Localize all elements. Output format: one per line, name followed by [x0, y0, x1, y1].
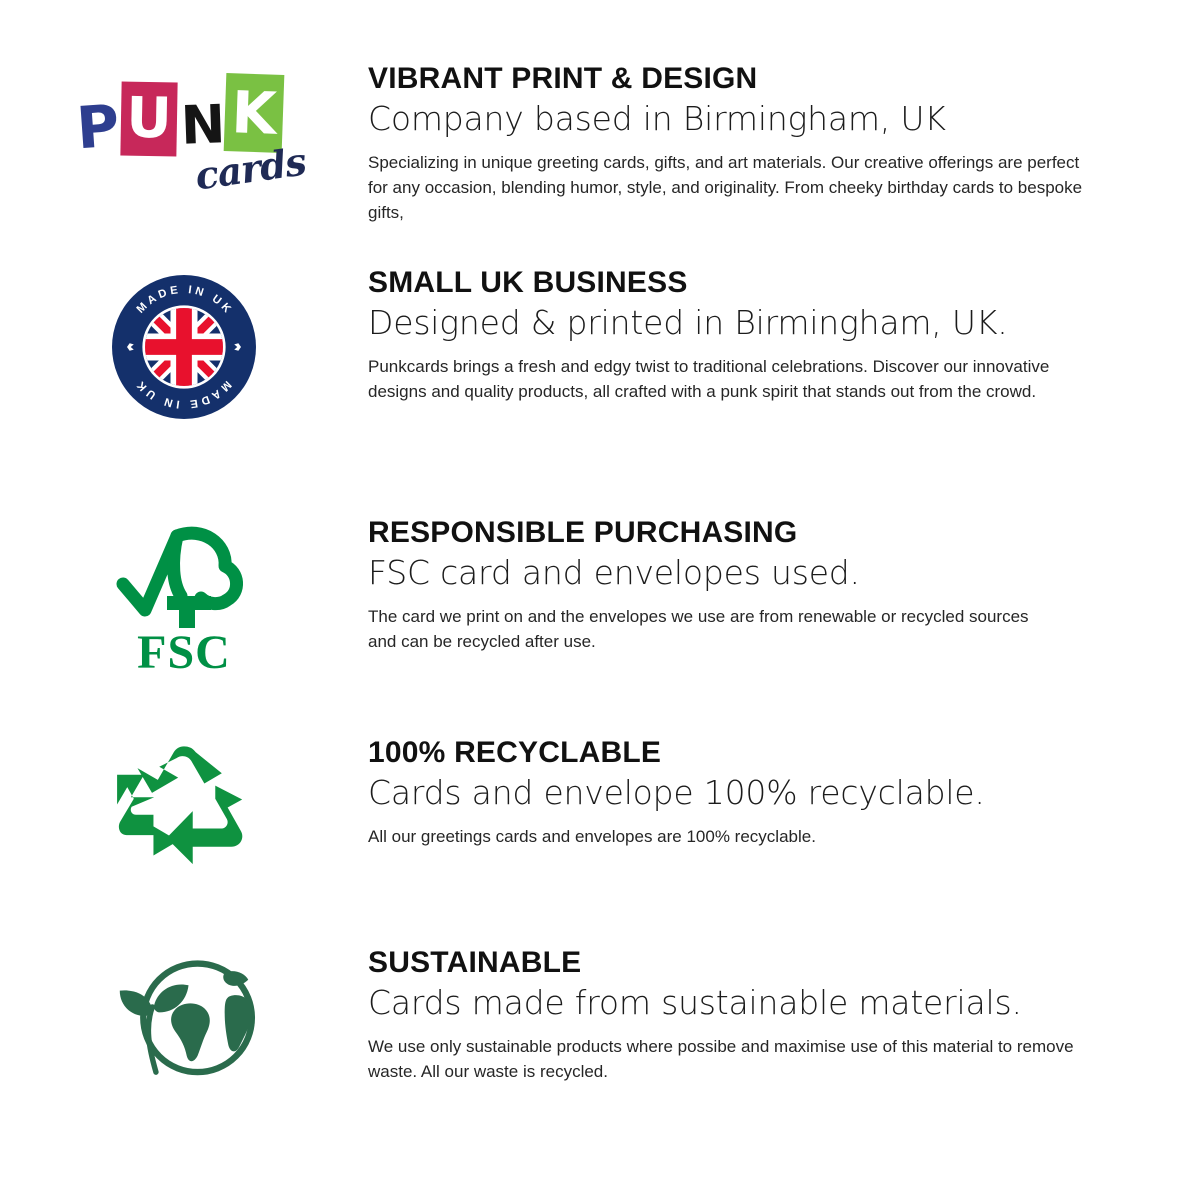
feature-row: 100% RECYCLABLE Cards and envelope 100% … — [0, 730, 1200, 940]
feature-icon-cell: FSC — [0, 516, 368, 672]
made-in-uk-badge-icon: MADE IN UK MADE IN UK — [109, 272, 259, 422]
punk-letter-n-icon: N — [178, 93, 228, 157]
punkcards-logo: P U N K cards — [69, 68, 299, 188]
feature-subheading: Cards made from sustainable materials. — [368, 984, 1100, 1023]
fsc-tree-icon: FSC — [115, 522, 253, 672]
globe-leaf-icon — [89, 952, 279, 1080]
feature-row: MADE IN UK MADE IN UK SMALL UK BUSINESS … — [0, 258, 1200, 508]
feature-subheading: Company based in Birmingham, UK — [368, 100, 1100, 139]
feature-icon-cell: MADE IN UK MADE IN UK — [0, 266, 368, 422]
feature-text-cell: VIBRANT PRINT & DESIGN Company based in … — [368, 62, 1200, 225]
recycle-symbol-icon — [109, 742, 259, 870]
feature-text-cell: SMALL UK BUSINESS Designed & printed in … — [368, 266, 1200, 405]
feature-row: FSC RESPONSIBLE PURCHASING FSC card and … — [0, 508, 1200, 730]
feature-text-cell: SUSTAINABLE Cards made from sustainable … — [368, 946, 1200, 1085]
feature-body: Punkcards brings a fresh and edgy twist … — [368, 355, 1098, 405]
feature-heading: VIBRANT PRINT & DESIGN — [368, 62, 1100, 96]
feature-list: P U N K cards VIBRANT PRINT & DESIGN Com… — [0, 0, 1200, 1200]
feature-text-cell: 100% RECYCLABLE Cards and envelope 100% … — [368, 736, 1200, 850]
feature-heading: SUSTAINABLE — [368, 946, 1100, 980]
feature-subheading: FSC card and envelopes used. — [368, 554, 1100, 593]
feature-heading: SMALL UK BUSINESS — [368, 266, 1100, 300]
feature-row: SUSTAINABLE Cards made from sustainable … — [0, 940, 1200, 1150]
feature-body: All our greetings cards and envelopes ar… — [368, 825, 1048, 850]
punk-letter-k-icon: K — [224, 73, 285, 153]
punk-letter-p-icon: P — [73, 92, 123, 161]
feature-body: Specializing in unique greeting cards, g… — [368, 151, 1098, 226]
punk-letter-u-icon: U — [120, 82, 177, 157]
feature-heading: 100% RECYCLABLE — [368, 736, 1100, 770]
feature-subheading: Designed & printed in Birmingham, UK. — [368, 304, 1100, 343]
feature-body: The card we print on and the envelopes w… — [368, 605, 1048, 655]
feature-icon-cell — [0, 946, 368, 1080]
fsc-wordmark: FSC — [137, 626, 231, 672]
feature-body: We use only sustainable products where p… — [368, 1035, 1078, 1085]
feature-icon-cell: P U N K cards — [0, 62, 368, 188]
feature-text-cell: RESPONSIBLE PURCHASING FSC card and enve… — [368, 516, 1200, 655]
feature-subheading: Cards and envelope 100% recyclable. — [368, 774, 1100, 813]
feature-row: P U N K cards VIBRANT PRINT & DESIGN Com… — [0, 0, 1200, 258]
feature-heading: RESPONSIBLE PURCHASING — [368, 516, 1100, 550]
feature-icon-cell — [0, 736, 368, 870]
